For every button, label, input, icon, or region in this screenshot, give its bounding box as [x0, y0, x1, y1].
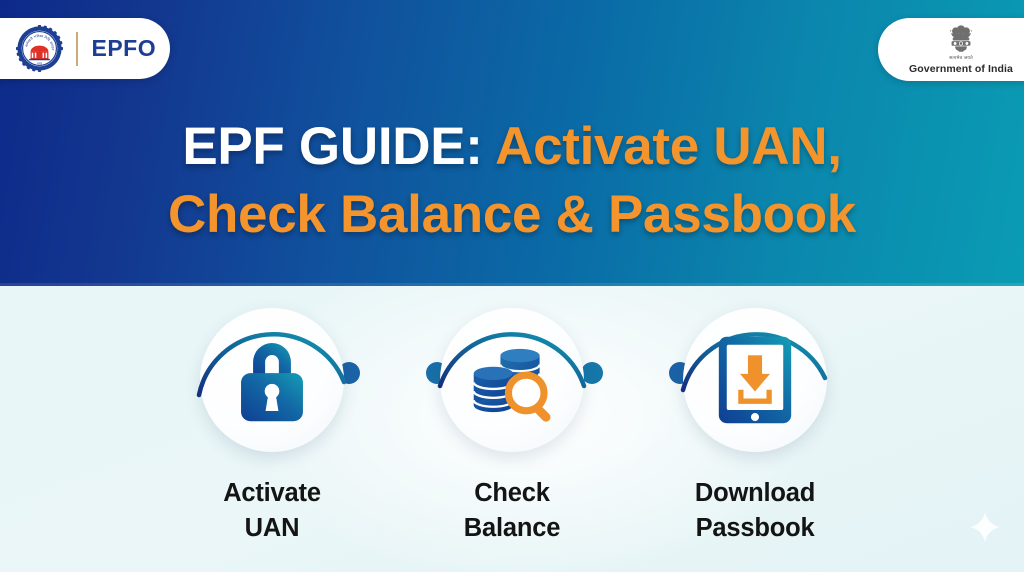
padlock-icon — [200, 308, 344, 452]
step-3-label-line2: Passbook — [665, 511, 845, 546]
satyameva-jayate-motto: सत्यमेव जयते — [949, 56, 973, 61]
brand-divider — [76, 32, 78, 66]
ashoka-lion-capital-icon — [943, 24, 979, 57]
title-highlight-1: Activate UAN, — [495, 117, 842, 176]
tablet-download-icon — [683, 308, 827, 452]
step-1-label: Activate UAN — [182, 476, 362, 546]
epfo-gear-emblem-icon: कर्मचारी भविष्य निधि संगठन — [16, 25, 63, 72]
step-3-label: Download Passbook — [665, 476, 845, 546]
steps-section: Activate UAN — [0, 286, 1024, 572]
header-banner: कर्मचारी भविष्य निधि संगठन — [0, 0, 1024, 286]
svg-text:भारत: भारत — [37, 61, 43, 65]
government-of-india-label: Government of India — [909, 63, 1013, 75]
coin-stacks-magnifier-icon — [440, 308, 584, 452]
step-check-balance[interactable]: Check Balance — [422, 300, 602, 546]
infographic-canvas: कर्मचारी भविष्य निधि संगठन — [0, 0, 1024, 572]
epfo-wordmark: EPFO — [92, 35, 157, 62]
steps-row: Activate UAN — [0, 286, 1024, 572]
step-1-label-line1: Activate — [182, 476, 362, 511]
title-line-2: Check Balance & Passbook — [0, 181, 1024, 249]
step-1-circle — [192, 300, 352, 460]
title-prefix: EPF GUIDE: — [182, 117, 482, 176]
step-1-label-line2: UAN — [182, 511, 362, 546]
step-2-label-line1: Check — [422, 476, 602, 511]
title-line-1: EPF GUIDE: Activate UAN, — [0, 113, 1024, 181]
step-3-circle — [675, 300, 835, 460]
step-3-label-line1: Download — [665, 476, 845, 511]
step-2-circle — [432, 300, 592, 460]
epfo-brand-badge: कर्मचारी भविष्य निधि संगठन — [0, 18, 170, 79]
step-activate-uan[interactable]: Activate UAN — [182, 300, 362, 546]
sparkle-star-icon — [968, 510, 1002, 544]
step-download-passbook[interactable]: Download Passbook — [665, 300, 845, 546]
step-2-label-line2: Balance — [422, 511, 602, 546]
step-2-label: Check Balance — [422, 476, 602, 546]
title-block: EPF GUIDE: Activate UAN, Check Balance &… — [0, 113, 1024, 249]
government-of-india-badge: सत्यमेव जयते Government of India — [878, 18, 1024, 81]
